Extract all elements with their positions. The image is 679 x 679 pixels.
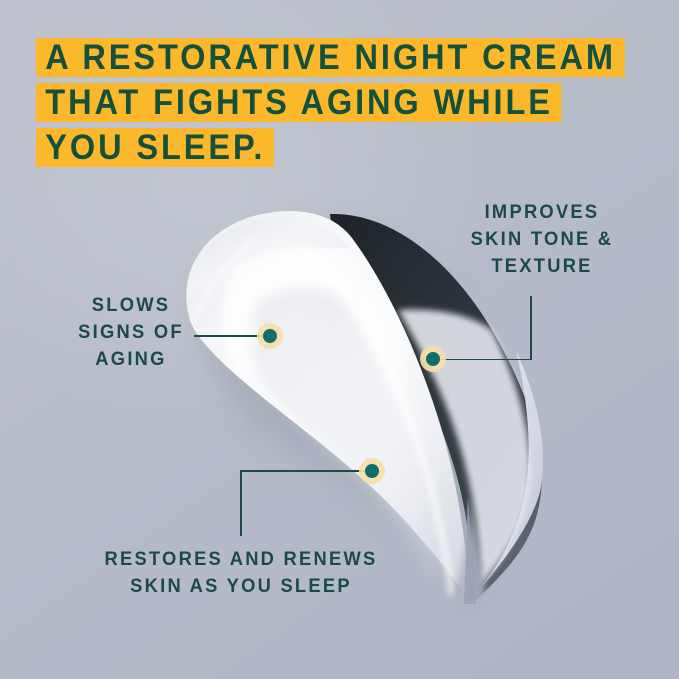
callout-label-slows: SLOWS SIGNS OF AGING bbox=[62, 292, 199, 373]
callout-label-restores: RESTORES AND RENEWS SKIN AS YOU SLEEP bbox=[95, 546, 386, 600]
callout-improves-line-2: SKIN TONE & bbox=[457, 226, 626, 253]
headline: A RESTORATIVE NIGHT CREAM THAT FIGHTS AG… bbox=[36, 38, 669, 167]
connector-improves-vertical bbox=[530, 296, 532, 360]
callout-improves-line-1: IMPROVES bbox=[457, 199, 626, 226]
marker-dot-restores[interactable] bbox=[359, 458, 385, 484]
callout-slows-line-1: SLOWS bbox=[62, 292, 199, 319]
callout-improves-line-3: TEXTURE bbox=[457, 253, 626, 280]
headline-line-3: YOU SLEEP. bbox=[36, 128, 274, 167]
connector-improves-horizontal bbox=[440, 359, 531, 361]
product-infographic: A RESTORATIVE NIGHT CREAM THAT FIGHTS AG… bbox=[0, 0, 679, 679]
callout-restores-line-2: SKIN AS YOU SLEEP bbox=[95, 573, 386, 600]
callout-restores-line-1: RESTORES AND RENEWS bbox=[95, 546, 386, 573]
callout-label-improves: IMPROVES SKIN TONE & TEXTURE bbox=[457, 199, 626, 280]
marker-dot-improves[interactable] bbox=[420, 346, 446, 372]
marker-dot-slows[interactable] bbox=[257, 323, 283, 349]
connector-slows-horizontal bbox=[194, 335, 264, 337]
connector-restores-horizontal bbox=[240, 470, 368, 472]
headline-line-2: THAT FIGHTS AGING WHILE bbox=[36, 83, 561, 122]
callout-slows-line-3: AGING bbox=[62, 346, 199, 373]
headline-line-1: A RESTORATIVE NIGHT CREAM bbox=[36, 38, 624, 77]
callout-slows-line-2: SIGNS OF bbox=[62, 319, 199, 346]
connector-restores-vertical bbox=[240, 470, 242, 536]
